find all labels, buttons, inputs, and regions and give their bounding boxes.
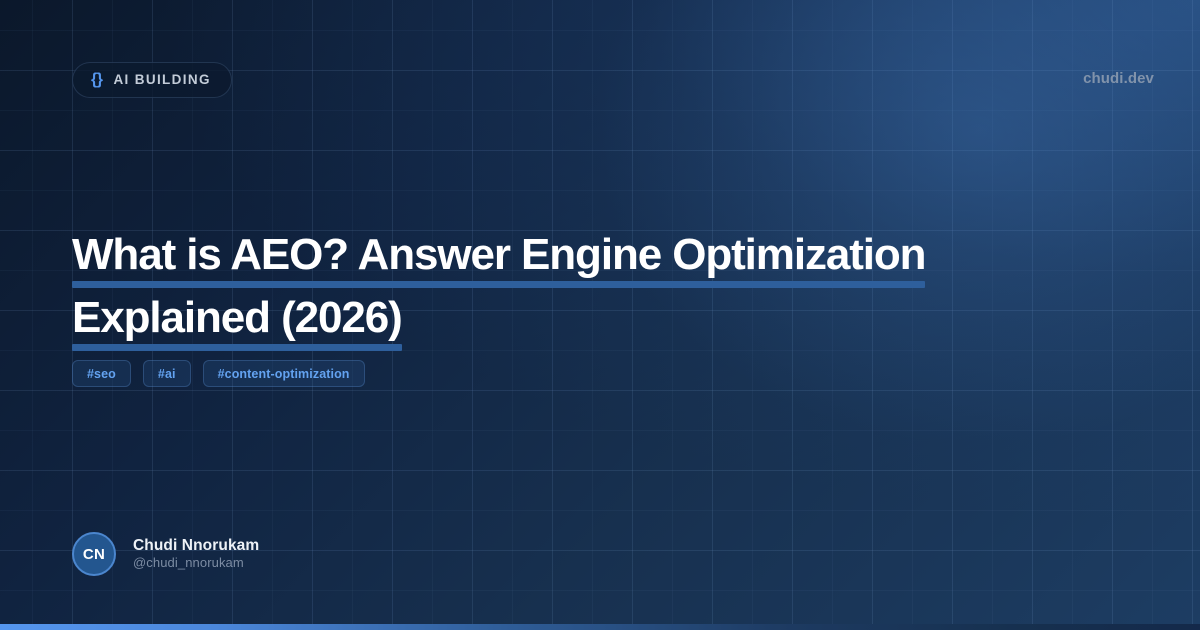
author-block: CN Chudi Nnorukam @chudi_nnorukam <box>72 532 259 576</box>
bottom-accent-bar <box>0 624 1200 630</box>
title-line-1: What is AEO? Answer Engine Optimization <box>72 232 925 288</box>
author-name: Chudi Nnorukam <box>133 536 259 555</box>
category-badge: {} AI BUILDING <box>72 62 232 98</box>
title-line-1-text: What is AEO? Answer Engine Optimization <box>72 232 925 278</box>
tag-list: #seo #ai #content-optimization <box>72 360 365 387</box>
author-handle: @chudi_nnorukam <box>133 555 259 572</box>
tag-content-optimization[interactable]: #content-optimization <box>203 360 365 387</box>
code-braces-icon: {} <box>91 72 102 88</box>
author-text: Chudi Nnorukam @chudi_nnorukam <box>133 536 259 572</box>
category-badge-label: AI BUILDING <box>113 73 210 87</box>
avatar: CN <box>72 532 116 576</box>
title-line-2: Explained (2026) <box>72 295 402 351</box>
title-line-2-text: Explained (2026) <box>72 295 402 341</box>
page-title: What is AEO? Answer Engine Optimization … <box>72 232 972 358</box>
site-name: chudi.dev <box>1083 70 1154 87</box>
social-share-card: {} AI BUILDING chudi.dev What is AEO? An… <box>0 0 1200 630</box>
background-glow <box>600 0 1200 440</box>
tag-seo[interactable]: #seo <box>72 360 131 387</box>
tag-ai[interactable]: #ai <box>143 360 191 387</box>
